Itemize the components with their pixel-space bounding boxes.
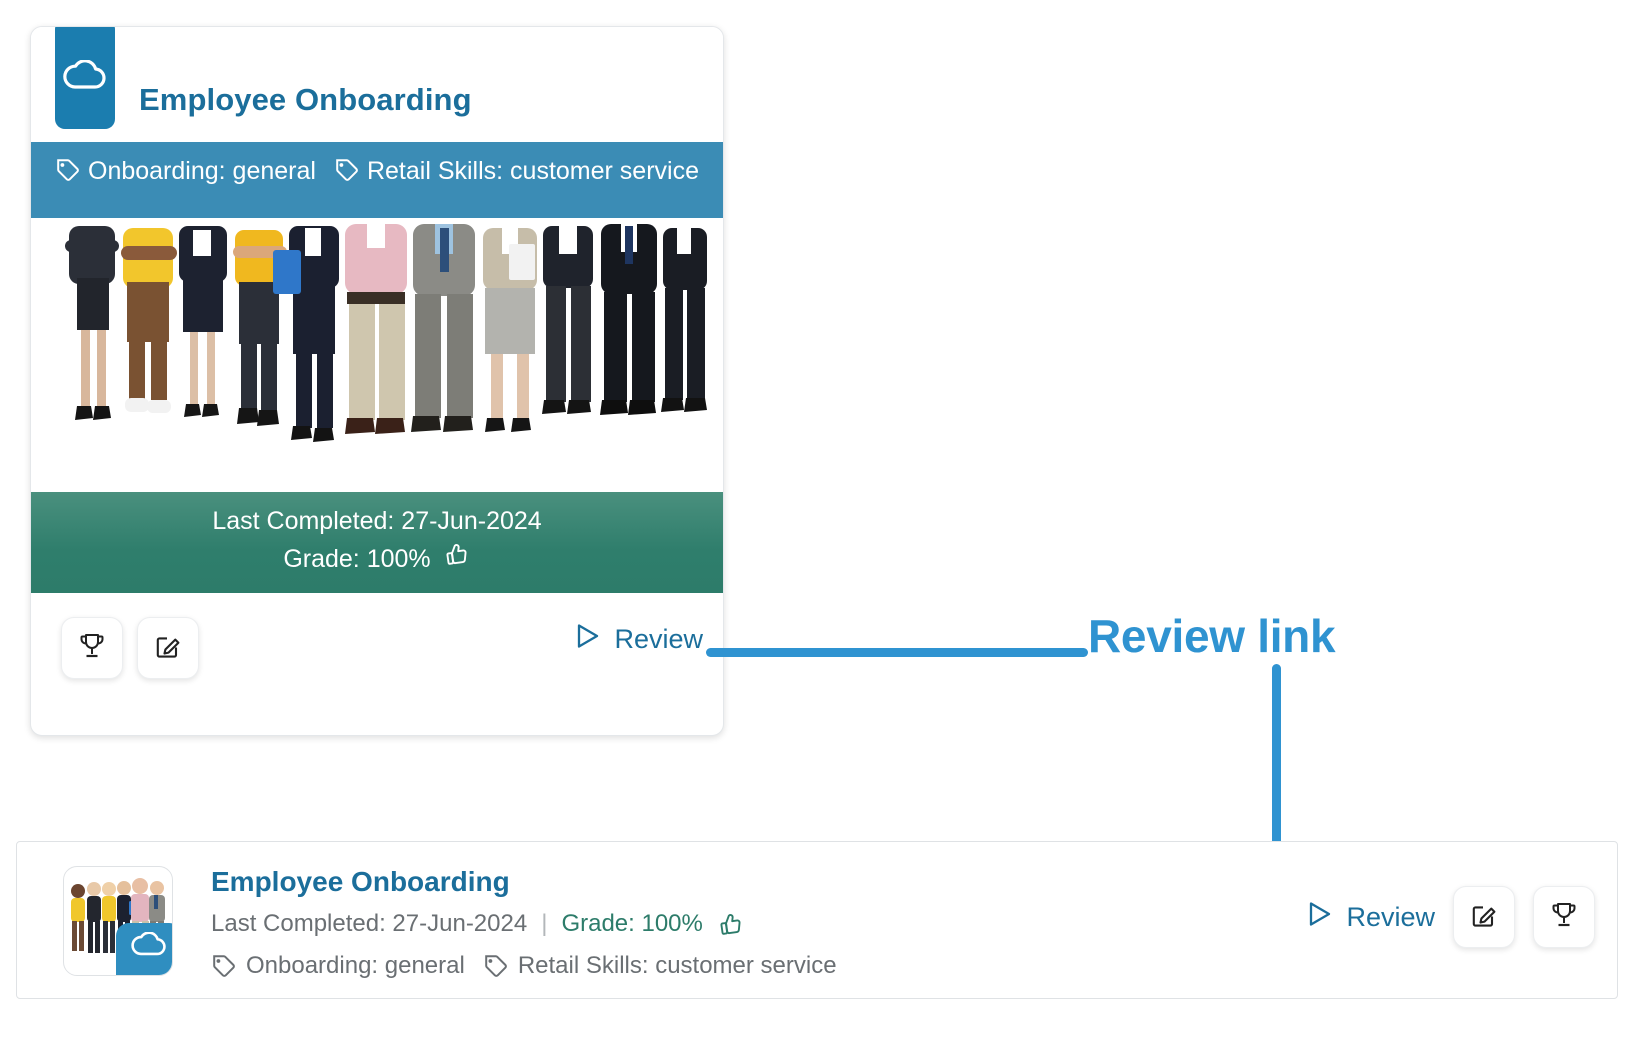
certificate-button[interactable]	[61, 617, 123, 679]
row-review-link[interactable]: Review	[1307, 900, 1435, 935]
course-card[interactable]: Employee Onboarding Onboarding: generalR…	[30, 26, 724, 736]
tag-icon	[55, 155, 81, 194]
card-status-bar: Last Completed: 27-Jun-2024 Grade: 100%	[31, 492, 723, 593]
tag-icon	[211, 954, 237, 978]
edit-button[interactable]	[137, 617, 199, 679]
row-actions: Review	[1307, 886, 1595, 948]
row-last-completed: Last Completed: 27-Jun-2024	[211, 910, 527, 938]
grade-text: Grade: 100%	[283, 541, 430, 578]
annotation-label: Review link	[1088, 609, 1335, 663]
trophy-icon	[1549, 900, 1579, 935]
tag-chip[interactable]: Retail Skills: customer service	[483, 952, 837, 980]
card-footer-buttons	[61, 617, 199, 679]
card-tag-banner: Onboarding: generalRetail Skills: custom…	[31, 142, 723, 218]
card-review-label: Review	[614, 624, 703, 655]
tag-label: Onboarding: general	[88, 157, 316, 185]
row-separator: |	[541, 910, 547, 938]
cloud-icon	[116, 923, 173, 976]
tag-icon	[483, 954, 509, 978]
play-triangle-icon	[1307, 900, 1333, 935]
play-triangle-icon	[575, 622, 601, 657]
grade-line: Grade: 100%	[31, 540, 723, 579]
card-title: Employee Onboarding	[139, 82, 472, 118]
row-title[interactable]: Employee Onboarding	[211, 866, 510, 898]
row-tags: Onboarding: general Retail Skills: custo…	[211, 952, 855, 980]
group-photo-illustration	[47, 218, 707, 492]
tag-chip[interactable]: Onboarding: general	[211, 952, 465, 980]
row-meta: Last Completed: 27-Jun-2024 | Grade: 100…	[211, 910, 745, 938]
edit-icon	[1469, 900, 1499, 935]
trophy-icon	[77, 631, 107, 666]
cloud-icon	[55, 26, 115, 129]
course-thumbnail	[63, 866, 173, 976]
certificate-button[interactable]	[1533, 886, 1595, 948]
thumbs-up-icon	[443, 540, 471, 579]
card-footer: Review	[31, 593, 723, 701]
annotation-horizontal-connector	[706, 648, 1088, 657]
last-completed-text: Last Completed: 27-Jun-2024	[31, 503, 723, 540]
course-list-row[interactable]: Employee Onboarding Last Completed: 27-J…	[16, 841, 1618, 999]
tag-label: Retail Skills: customer service	[518, 952, 837, 980]
edit-icon	[153, 631, 183, 666]
tag-icon	[334, 155, 360, 194]
row-review-label: Review	[1346, 902, 1435, 933]
tag-label: Retail Skills: customer service	[367, 157, 699, 185]
row-grade: Grade: 100%	[561, 910, 702, 938]
tag-chip[interactable]: Retail Skills: customer service	[334, 157, 699, 185]
card-header: Employee Onboarding	[31, 27, 723, 142]
card-photo	[31, 218, 723, 492]
card-review-link[interactable]: Review	[575, 622, 703, 657]
tag-label: Onboarding: general	[246, 952, 465, 980]
edit-button[interactable]	[1453, 886, 1515, 948]
thumbs-up-icon	[717, 910, 745, 938]
tag-chip[interactable]: Onboarding: general	[55, 157, 316, 185]
